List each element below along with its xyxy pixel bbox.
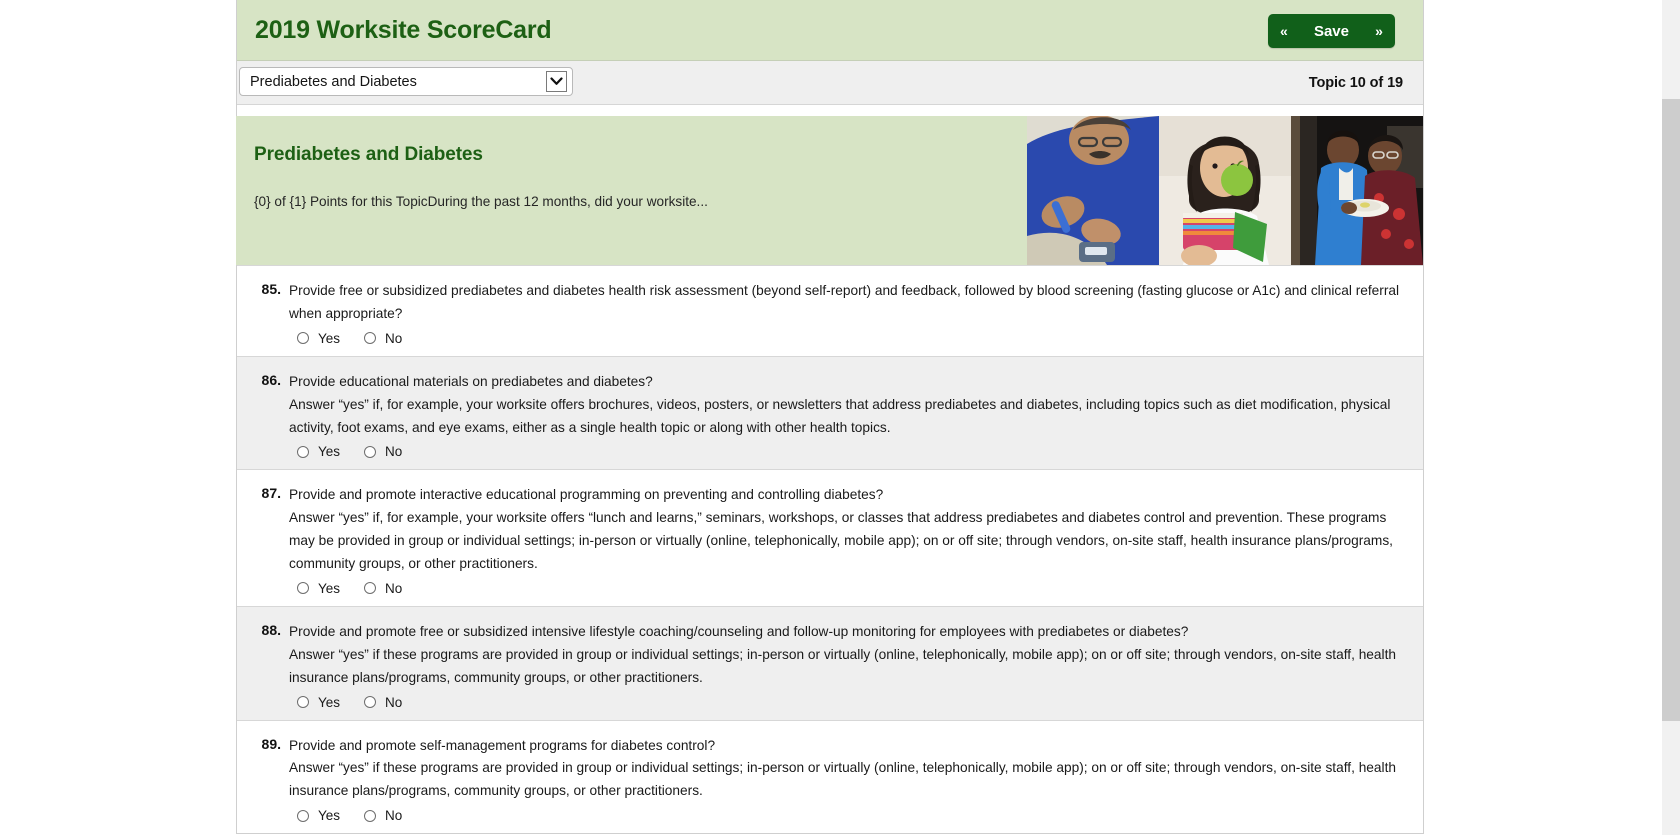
question-help-text: Answer “yes” if, for example, your works… xyxy=(289,394,1401,440)
topic-counter: Topic 10 of 19 xyxy=(1309,75,1403,91)
answer-options: Yes No xyxy=(289,808,1401,823)
next-topic-icon[interactable]: » xyxy=(1363,14,1395,48)
question-number: 89. xyxy=(259,735,289,752)
question-row: 89. Provide and promote self-management … xyxy=(237,720,1423,834)
banner-wrapper: Prediabetes and Diabetes {0} of {1} Poin… xyxy=(237,105,1423,265)
page-scrollbar-thumb[interactable] xyxy=(1662,99,1680,721)
question-text: Provide and promote self-management prog… xyxy=(289,735,1401,758)
radio-yes[interactable] xyxy=(297,810,309,822)
question-row: 85. Provide free or subsidized prediabet… xyxy=(237,265,1423,356)
radio-no[interactable] xyxy=(364,582,376,594)
answer-options: Yes No xyxy=(289,581,1401,596)
answer-options: Yes No xyxy=(289,695,1401,710)
banner-photo-strip xyxy=(1027,116,1423,265)
question-number: 85. xyxy=(259,280,289,297)
option-yes-label: Yes xyxy=(318,695,340,710)
option-no[interactable]: No xyxy=(364,581,402,596)
option-yes[interactable]: Yes xyxy=(297,808,340,823)
question-text: Provide free or subsidized prediabetes a… xyxy=(289,280,1401,326)
option-no-label: No xyxy=(385,808,402,823)
page-scrollbar-track[interactable] xyxy=(1662,0,1680,835)
question-text: Provide and promote free or subsidized i… xyxy=(289,621,1401,644)
photo-two-women-with-plate-of-food xyxy=(1291,116,1423,265)
option-yes-label: Yes xyxy=(318,331,340,346)
radio-no[interactable] xyxy=(364,446,376,458)
option-no-label: No xyxy=(385,695,402,710)
question-row: 86. Provide educational materials on pre… xyxy=(237,356,1423,470)
banner-title: Prediabetes and Diabetes xyxy=(254,144,1027,166)
app-header: 2019 Worksite ScoreCard « Save » xyxy=(237,0,1423,61)
option-no[interactable]: No xyxy=(364,444,402,459)
radio-yes[interactable] xyxy=(297,582,309,594)
option-no-label: No xyxy=(385,331,402,346)
option-yes-label: Yes xyxy=(318,808,340,823)
option-yes[interactable]: Yes xyxy=(297,444,340,459)
radio-no[interactable] xyxy=(364,332,376,344)
option-yes[interactable]: Yes xyxy=(297,581,340,596)
banner-text: Prediabetes and Diabetes {0} of {1} Poin… xyxy=(236,116,1027,265)
save-button[interactable]: Save xyxy=(1300,14,1363,48)
option-no-label: No xyxy=(385,581,402,596)
topic-select[interactable]: Prediabetes and Diabetes xyxy=(239,67,573,96)
topic-banner: Prediabetes and Diabetes {0} of {1} Poin… xyxy=(236,116,1423,265)
question-help-text: Answer “yes” if these programs are provi… xyxy=(289,644,1401,690)
question-help-text: Answer “yes” if these programs are provi… xyxy=(289,757,1401,803)
option-yes-label: Yes xyxy=(318,581,340,596)
radio-no[interactable] xyxy=(364,810,376,822)
option-yes[interactable]: Yes xyxy=(297,331,340,346)
topic-select-value: Prediabetes and Diabetes xyxy=(240,74,546,90)
option-yes-label: Yes xyxy=(318,444,340,459)
answer-options: Yes No xyxy=(289,444,1401,459)
photo-man-testing-blood-glucose xyxy=(1027,116,1159,265)
banner-subtitle: {0} of {1} Points for this TopicDuring t… xyxy=(254,192,1027,211)
option-no[interactable]: No xyxy=(364,331,402,346)
answer-options: Yes No xyxy=(289,331,1401,346)
option-no-label: No xyxy=(385,444,402,459)
previous-topic-icon[interactable]: « xyxy=(1268,14,1300,48)
radio-yes[interactable] xyxy=(297,696,309,708)
question-row: 88. Provide and promote free or subsidiz… xyxy=(237,606,1423,720)
topic-bar: Prediabetes and Diabetes Topic 10 of 19 xyxy=(237,61,1423,105)
question-help-text: Answer “yes” if, for example, your works… xyxy=(289,507,1401,576)
option-no[interactable]: No xyxy=(364,808,402,823)
save-button-group[interactable]: « Save » xyxy=(1268,14,1395,48)
chevron-down-icon[interactable] xyxy=(546,71,567,92)
question-row: 87. Provide and promote interactive educ… xyxy=(237,469,1423,606)
radio-no[interactable] xyxy=(364,696,376,708)
question-text: Provide and promote interactive educatio… xyxy=(289,484,1401,507)
question-text: Provide educational materials on prediab… xyxy=(289,371,1401,394)
option-yes[interactable]: Yes xyxy=(297,695,340,710)
page-title: 2019 Worksite ScoreCard xyxy=(255,16,551,45)
page-root: 2019 Worksite ScoreCard « Save » Prediab… xyxy=(0,0,1680,835)
question-number: 88. xyxy=(259,621,289,638)
scorecard-card: 2019 Worksite ScoreCard « Save » Prediab… xyxy=(236,0,1424,834)
option-no[interactable]: No xyxy=(364,695,402,710)
question-number: 87. xyxy=(259,484,289,501)
radio-yes[interactable] xyxy=(297,332,309,344)
photo-woman-eating-apple-holding-books xyxy=(1159,116,1291,265)
radio-yes[interactable] xyxy=(297,446,309,458)
questions-list: 85. Provide free or subsidized prediabet… xyxy=(237,265,1423,833)
question-number: 86. xyxy=(259,371,289,388)
